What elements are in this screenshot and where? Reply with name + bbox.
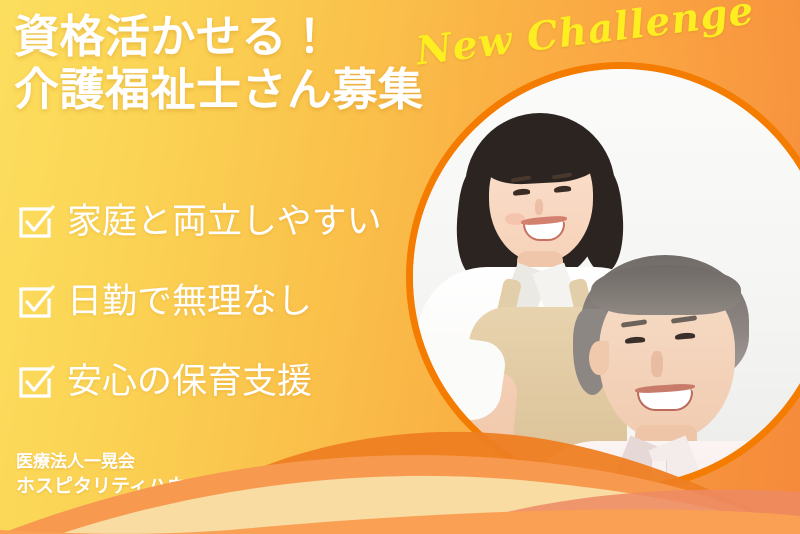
benefit-item: 安心の保育支援 bbox=[16, 356, 382, 408]
checkbox-checked-icon bbox=[16, 363, 54, 401]
benefits-list: 家庭と両立しやすい 日勤で無理なし 安心の保育支援 bbox=[16, 196, 382, 408]
wave-salmon bbox=[430, 490, 800, 534]
organization-name: 医療法人一晃会 bbox=[16, 450, 446, 474]
elderly-man-ear bbox=[589, 341, 609, 375]
checkbox-checked-icon bbox=[16, 203, 54, 241]
benefit-item: 日勤で無理なし bbox=[16, 276, 382, 328]
benefit-label: 日勤で無理なし bbox=[67, 283, 312, 321]
checkbox-checked-icon bbox=[16, 283, 54, 321]
elderly-man-fringe bbox=[591, 265, 741, 315]
footer: 医療法人一晃会 ホスピタリティハウス青い鳥(入間市二本木下狭山) bbox=[16, 450, 446, 500]
photo-circle bbox=[406, 62, 800, 492]
wave-base-orange bbox=[0, 509, 800, 534]
benefit-item: 家庭と両立しやすい bbox=[16, 196, 382, 248]
headline-line-2: 介護福祉士さん募集 bbox=[14, 63, 424, 116]
elderly-man-shirt-placket bbox=[651, 461, 667, 485]
recruitment-banner: 資格活かせる！ 介護福祉士さん募集 New Challenge 家庭と両立しやす… bbox=[0, 0, 800, 534]
caregiver-nose bbox=[535, 199, 543, 215]
photo-image bbox=[413, 69, 800, 485]
benefit-label: 家庭と両立しやすい bbox=[67, 203, 382, 241]
benefit-label: 安心の保育支援 bbox=[67, 363, 312, 401]
caregiver-sleeve bbox=[413, 330, 508, 424]
headline: 資格活かせる！ 介護福祉士さん募集 bbox=[14, 10, 424, 116]
facility-name: ホスピタリティハウス青い鳥(入間市二本木下狭山) bbox=[16, 474, 446, 500]
headline-line-1: 資格活かせる！ bbox=[14, 10, 424, 63]
elderly-man-nose bbox=[651, 351, 663, 377]
script-accent-text: New Challenge bbox=[413, 0, 756, 75]
